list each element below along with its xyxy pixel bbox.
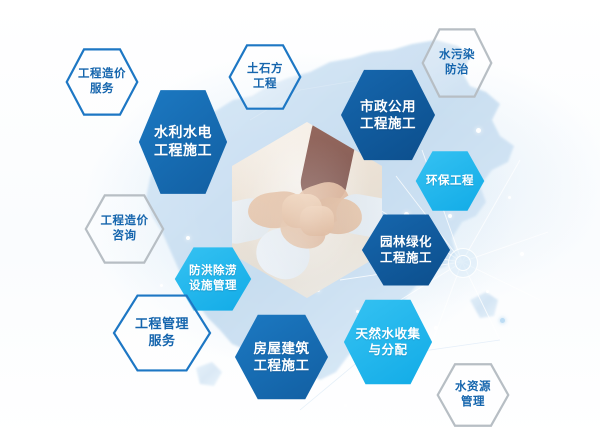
sparkle-dot [508,196,511,199]
sparkle-dot [486,290,489,293]
hexagon-label: 工程管理 服务 [135,316,189,349]
sparkle-dot [520,252,524,256]
hexagon-label: 水利水电 工程施工 [154,124,212,160]
hexagon-landscaping-construction[interactable]: 园林绿化 工程施工 [361,213,451,287]
network-node-inner-ring [455,255,471,271]
hexagon-engineering-cost-consulting[interactable]: 工程造价 咨询 [85,194,164,264]
hexagon-label: 园林绿化 工程施工 [380,234,432,266]
sparkle-dot [476,128,481,133]
hexagon-label: 天然水收集 与分配 [355,326,420,358]
hexagon-label: 工程造价 服务 [78,67,126,96]
hexagon-engineering-cost-service[interactable]: 工程造价 服务 [66,48,138,116]
hexagon-label: 市政公用 工程施工 [360,98,416,133]
hexagon-earthwork-engineering[interactable]: 土石方 工程 [229,44,301,110]
hexagon-label: 工程造价 咨询 [101,214,149,243]
hexagon-natural-water-collection-distribution[interactable]: 天然水收集 与分配 [343,298,433,386]
sparkle-dot [186,236,190,240]
hexagon-water-resource-management[interactable]: 水资源 管理 [437,363,509,427]
sparkle-dot [434,326,438,330]
hexagon-environmental-protection-engineering[interactable]: 环保工程 [415,150,485,212]
hexagon-housing-construction-engineering[interactable]: 房屋建筑 工程施工 [234,313,329,401]
hexagon-label: 水资源 管理 [455,380,491,409]
hexagon-capability-graphic: 工程造价 服务土石方 工程水污染 防治市政公用 工程施工水利水电 工程施工环保工… [0,0,600,439]
hexagon-engineering-management-service[interactable]: 工程管理 服务 [113,294,211,372]
hexagon-label: 房屋建筑 工程施工 [254,340,310,375]
hexagon-label: 水污染 防治 [439,48,475,77]
hexagon-label: 环保工程 [426,174,474,189]
sparkle-dot [160,284,163,287]
hexagon-label: 防洪除涝 设施管理 [189,264,237,293]
sparkle-dot [344,404,347,407]
hexagon-water-conservancy-hydropower-construction[interactable]: 水利水电 工程施工 [138,88,228,196]
hexagon-municipal-public-works-construction[interactable]: 市政公用 工程施工 [340,68,436,162]
hexagon-label: 土石方 工程 [247,62,283,91]
sparkle-dot [500,318,505,323]
